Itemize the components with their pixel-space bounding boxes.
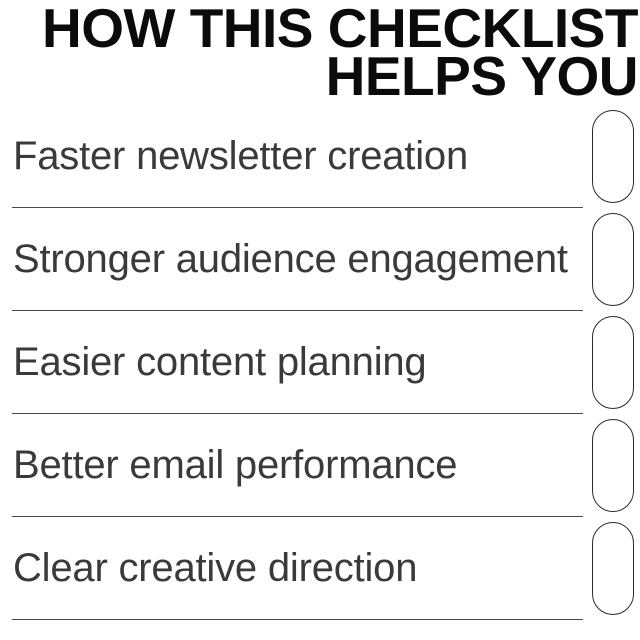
checkbox-icon[interactable]: [592, 316, 634, 409]
checkbox-icon[interactable]: [592, 213, 634, 306]
page-title-line-2: HELPS YOU: [20, 52, 638, 100]
checklist: Faster newsletter creation Stronger audi…: [0, 105, 640, 620]
list-item-label: Easier content planning: [13, 311, 426, 414]
list-item[interactable]: Easier content planning: [0, 311, 640, 414]
list-item-label: Faster newsletter creation: [13, 105, 468, 208]
list-item[interactable]: Clear creative direction: [0, 517, 640, 620]
row-divider: [12, 619, 583, 620]
checkbox-icon[interactable]: [592, 110, 634, 203]
list-item-label: Stronger audience engagement: [13, 208, 568, 311]
list-item[interactable]: Better email performance: [0, 414, 640, 517]
list-item[interactable]: Faster newsletter creation: [0, 105, 640, 208]
page-title: HOW THIS CHECKLIST HELPS YOU: [20, 0, 638, 100]
checkbox-icon[interactable]: [592, 522, 634, 615]
checkbox-icon[interactable]: [592, 419, 634, 512]
list-item[interactable]: Stronger audience engagement: [0, 208, 640, 311]
checklist-graphic: HOW THIS CHECKLIST HELPS YOU Faster news…: [0, 0, 640, 640]
list-item-label: Better email performance: [13, 414, 457, 517]
list-item-label: Clear creative direction: [13, 517, 417, 620]
